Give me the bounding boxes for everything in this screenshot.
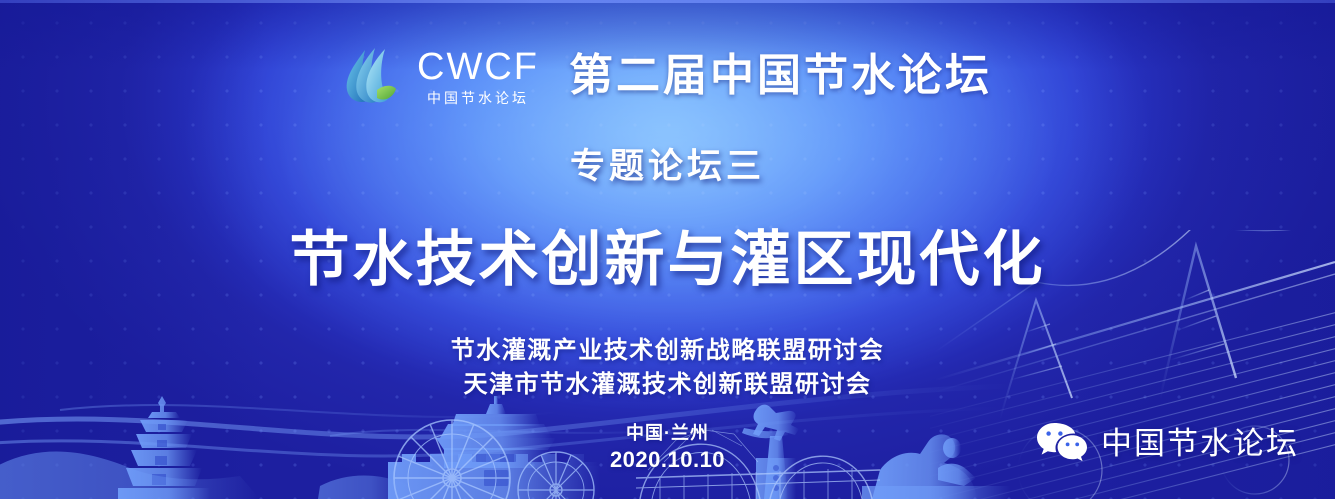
sub-forum-label: 专题论坛三: [570, 138, 765, 189]
logo-wordmark: CWCF 中国节水论坛: [417, 48, 539, 105]
water-drop-leaf-logo-icon: [343, 46, 399, 106]
place-date-block: 中国·兰州 2020.10.10: [610, 422, 725, 473]
wechat-badge[interactable]: 中国节水论坛: [1035, 418, 1299, 463]
main-title: 节水技术创新与灌区现代化: [290, 211, 1046, 298]
logo-chinese-name: 中国节水论坛: [427, 91, 529, 105]
brand-row: CWCF 中国节水论坛 第二届中国节水论坛: [343, 46, 992, 106]
wechat-icon: [1035, 421, 1089, 461]
meeting-line: 节水灌溉产业技术创新战略联盟研讨会: [451, 334, 885, 368]
meeting-list: 节水灌溉产业技术创新战略联盟研讨会 天津市节水灌溉技术创新联盟研讨会: [451, 334, 885, 402]
wechat-label: 中国节水论坛: [1101, 418, 1299, 463]
forum-title: 第二届中国节水论坛: [569, 54, 992, 98]
date-label: 2020.10.10: [610, 446, 725, 474]
conference-banner: CWCF 中国节水论坛 第二届中国节水论坛 专题论坛三 节水技术创新与灌区现代化…: [0, 0, 1335, 499]
meeting-line: 天津市节水灌溉技术创新联盟研讨会: [451, 368, 885, 402]
place-label: 中国·兰州: [610, 422, 725, 445]
logo-acronym: CWCF: [417, 48, 539, 86]
